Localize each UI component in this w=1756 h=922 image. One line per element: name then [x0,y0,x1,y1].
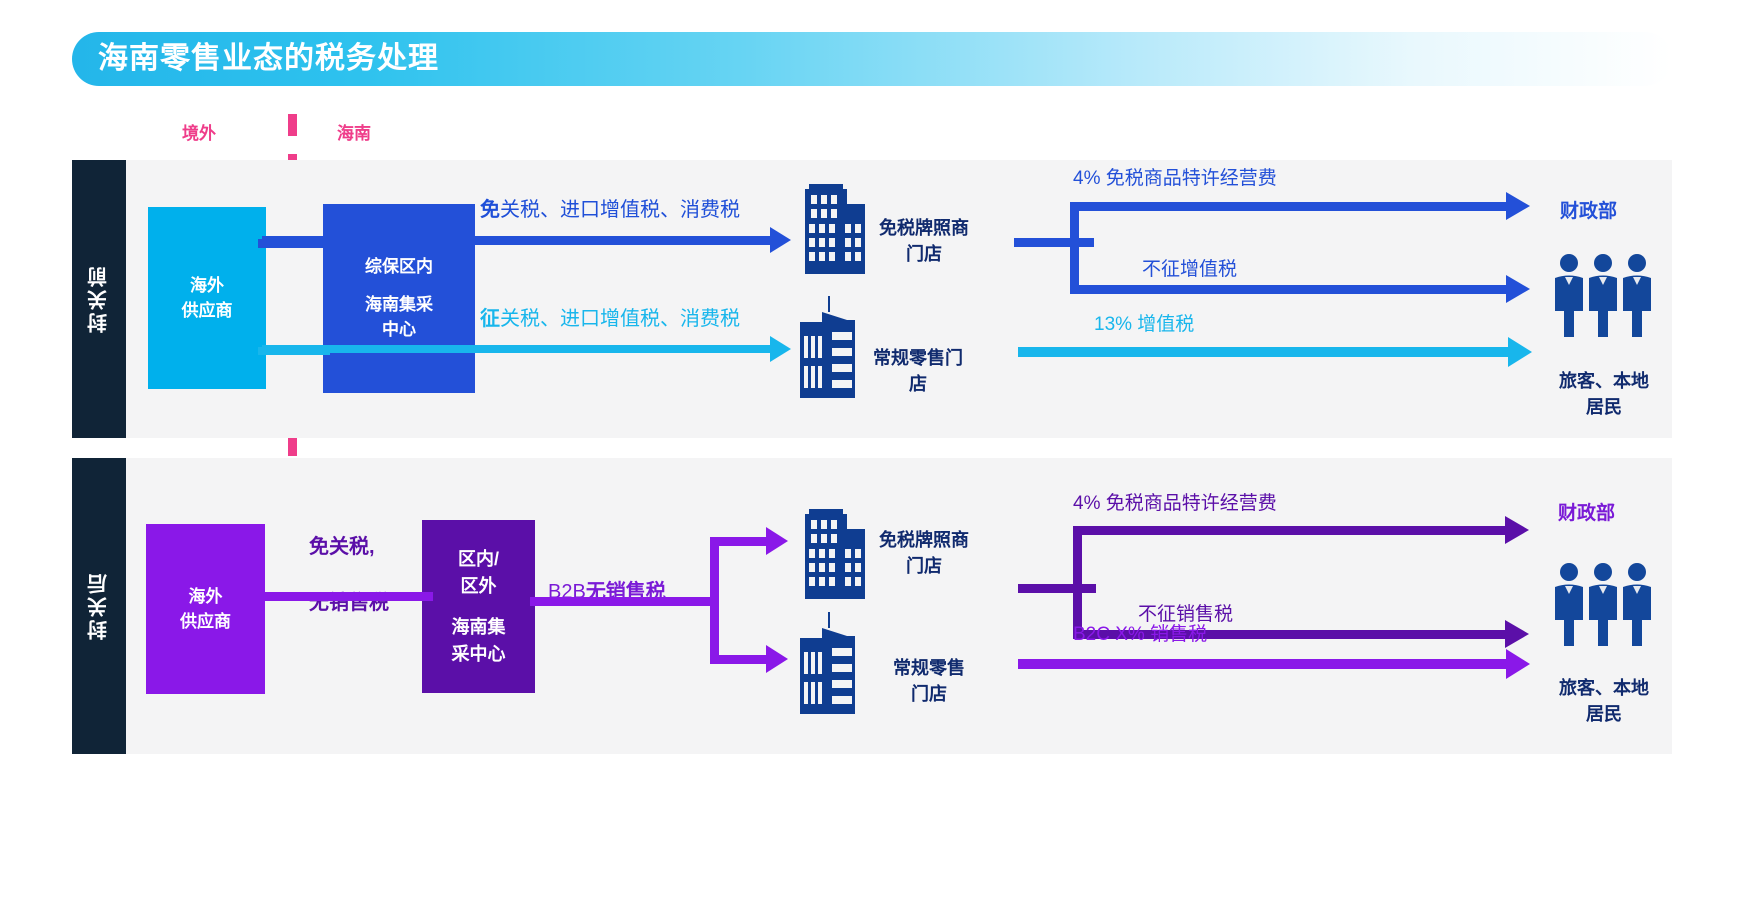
arrow-head-b2b-regular-after [766,645,788,673]
node-overseas-supplier-before[interactable]: 海外 供应商 [148,207,266,389]
page-title: 海南零售业态的税务处理 [98,38,439,80]
receiver-label-ministry-before: 财政部 [1560,198,1617,226]
store-label-line1: 免税牌照商 [879,218,969,238]
receiver-label-ministry-after: 财政部 [1558,500,1615,528]
outflow-label-franchise-fee-after: 4% 免税商品特许经营费 [1073,490,1277,518]
arrow-head-consumers-before [1508,337,1532,367]
connector-supplier-hub-after [258,592,433,601]
outflow-label-franchise-fee-before: 4% 免税商品特许经营费 [1073,165,1277,193]
store-label-regular-after: 常规零售 门店 [893,655,965,707]
flow-label-rest: 关税、进口增值税、消费税 [500,199,740,221]
receiver-label-line2: 居民 [1586,704,1622,724]
node-label-line1: 海外 [190,273,224,299]
arrow-regular-to-consumers-before [1018,347,1510,357]
arrow-head-b2b-dutyfree-after [766,527,788,555]
outflow-label-b2c-after: B2C X% 销售税 [1073,621,1207,649]
b2b-arm-bottom-after [710,655,768,664]
node-procurement-hub-after[interactable]: 区内/ 区外 海南集 采中心 [422,520,535,693]
receiver-label-line2: 居民 [1586,397,1622,417]
arrow-head-ministry-before [1506,192,1530,220]
branch-arm-bottom-before [1070,285,1508,294]
arrow-head-novat-before [1506,275,1530,303]
branch-trunk-after [1018,584,1096,593]
tall-building-icon [795,503,871,599]
store-label-line2: 门店 [879,553,969,579]
three-people-icon [1551,253,1655,337]
three-people-icon-svg [1551,253,1655,337]
store-label-line1: 免税牌照商 [879,530,969,550]
flow-label-line1: 免关税, [309,536,375,558]
diagram-canvas: 海南零售业态的税务处理 境外 海南 封关前 海外 供应商 综保区内 海南集采 中… [0,0,1756,922]
office-building-icon-svg [795,612,865,714]
flow-label-prefix: 征 [480,308,500,330]
tall-building-icon [795,178,871,274]
section-band-label-after: 封关后 [72,458,126,754]
arrow-head-ministry-after [1505,516,1529,544]
node-label-line3: 海南集 [452,614,506,641]
flow-label-levy-before: 征关税、进口增值税、消费税 [480,305,740,334]
arrow-head-no-sales-tax-after [1505,620,1529,648]
store-label-line1: 常规零售门 [873,348,963,368]
branch-vertical-before [1070,202,1079,294]
node-label-line2: 供应商 [182,298,233,324]
store-label-line2: 门店 [879,241,969,267]
office-building-icon-svg [795,296,865,398]
branch-arm-top-before [1070,202,1508,211]
b2b-arm-top-after [710,537,768,546]
receiver-label-line1: 旅客、本地 [1559,678,1649,698]
node-overseas-supplier-after[interactable]: 海外 供应商 [146,524,265,694]
outflow-label-no-vat-before: 不征增值税 [1142,256,1237,284]
arrow-head-hub-to-dutyfree-before [770,227,791,253]
receiver-label-consumers-after: 旅客、本地 居民 [1547,675,1661,727]
node-label-line3: 中心 [382,317,416,343]
three-people-icon-svg [1551,562,1655,646]
store-label-dutyfree-before: 免税牌照商 门店 [879,215,969,267]
region-label-hainan: 海南 [337,119,371,144]
store-label-line2: 店 [873,371,963,397]
branch-arm-top-after [1073,526,1507,535]
flow-label-rest: 关税、进口增值税、消费税 [500,308,740,330]
node-label-line1: 综保区内 [365,254,433,280]
node-label-line1: 区内/ [458,546,499,573]
office-building-icon [795,296,865,398]
store-label-dutyfree-after: 免税牌照商 门店 [879,527,969,579]
flow-label-exempt-before: 免关税、进口增值税、消费税 [480,196,740,225]
arrow-head-hub-to-regular-before [770,336,791,362]
office-building-icon [795,612,865,714]
tall-building-icon-svg [795,503,871,599]
receiver-label-line1: 旅客、本地 [1559,371,1649,391]
store-label-line1: 常规零售 [893,658,965,678]
node-procurement-hub-before[interactable]: 综保区内 海南集采 中心 [323,204,475,393]
branch-trunk-before [1014,238,1094,247]
b2b-trunk-after [530,597,718,606]
flow-label-prefix: 免 [480,199,500,221]
receiver-label-consumers-before: 旅客、本地 居民 [1547,368,1661,420]
node-label-line1: 海外 [189,584,223,610]
section-band-label-before: 封关前 [72,160,126,438]
arrow-hub-to-regular-before [262,345,772,353]
node-label-line2: 海南集采 [365,292,433,318]
flow-label-cross-border-after: 免关税, 无销售税 [309,519,389,631]
node-label-line2: 供应商 [180,609,231,635]
node-label-line2: 区外 [461,573,497,600]
store-label-line2: 门店 [893,681,965,707]
arrow-head-consumers-after [1506,649,1530,679]
b2b-split-vertical-after [710,537,719,664]
arrow-hub-to-dutyfree-before [262,236,772,245]
store-label-regular-before: 常规零售门 店 [873,345,963,397]
arrow-regular-to-consumers-after [1018,659,1508,669]
outflow-label-vat13-before: 13% 增值税 [1094,311,1194,339]
region-label-overseas: 境外 [182,119,216,144]
node-label-line4: 采中心 [452,641,506,668]
three-people-icon [1551,562,1655,646]
tall-building-icon-svg [795,178,871,274]
